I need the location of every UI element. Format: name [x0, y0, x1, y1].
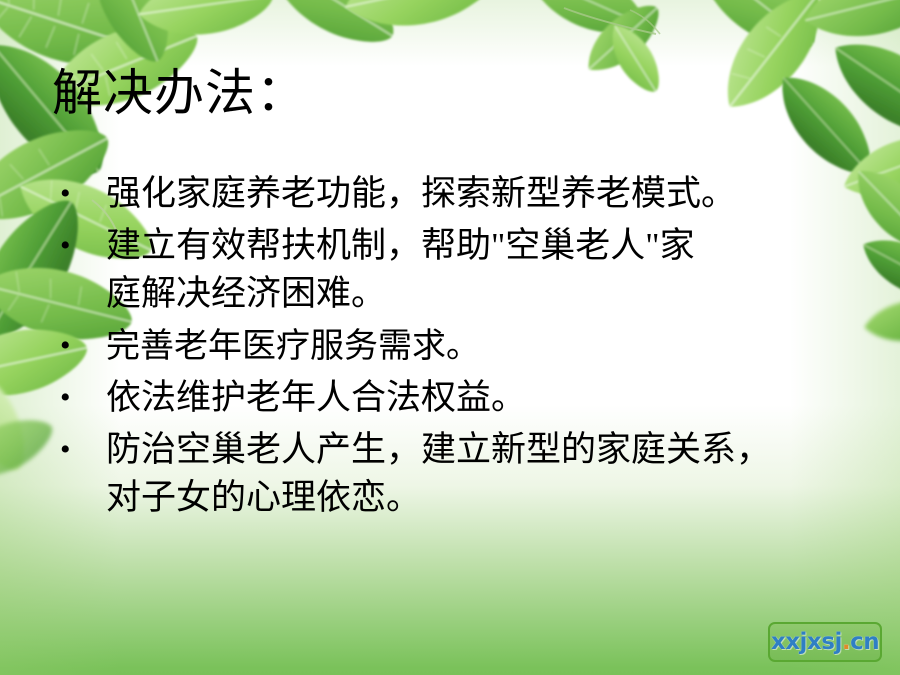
bullet-text-1-line1: 强化家庭养老功能，探索新型养老模式。: [106, 174, 736, 213]
leaf-stem-top-center: [560, 4, 680, 50]
bullet-marker-icon: •: [54, 374, 106, 422]
list-item: • 防治空巢老人产生，建立新型的家庭关系， 对子女的心理依恋。: [54, 426, 854, 522]
bullet-text-2-line2: 庭解决经济困难。: [106, 270, 854, 318]
list-item: • 建立有效帮扶机制，帮助"空巢老人"家 庭解决经济困难。: [54, 222, 854, 318]
bullet-marker-icon: •: [54, 322, 106, 370]
bullet-marker-icon: •: [54, 426, 106, 474]
bullet-list: • 强化家庭养老功能，探索新型养老模式。 • 建立有效帮扶机制，帮助"空巢老人"…: [54, 170, 854, 526]
bullet-text-3: 完善老年医疗服务需求。: [106, 322, 854, 370]
bullet-marker-icon: •: [54, 170, 106, 218]
list-item: • 完善老年医疗服务需求。: [54, 322, 854, 370]
bullet-text-5-line2: 对子女的心理依恋。: [106, 474, 854, 522]
slide-canvas: 解决办法： • 强化家庭养老功能，探索新型养老模式。 • 建立有效帮扶机制，帮助…: [0, 0, 900, 675]
bullet-text-4: 依法维护老年人合法权益。: [106, 374, 854, 422]
bullet-text-3-line1: 完善老年医疗服务需求。: [106, 327, 480, 365]
list-item: • 强化家庭养老功能，探索新型养老模式。: [54, 170, 854, 218]
bullet-text-4-line1: 依法维护老年人合法权益。: [106, 378, 526, 417]
bullet-text-5-line1: 防治空巢老人产生，建立新型的家庭关系，: [106, 430, 771, 469]
bullet-text-1: 强化家庭养老功能，探索新型养老模式。: [106, 170, 854, 218]
watermark-text-part1: xxjxsj: [771, 631, 842, 654]
watermark-dot: .: [842, 631, 850, 654]
bullet-text-5: 防治空巢老人产生，建立新型的家庭关系， 对子女的心理依恋。: [106, 426, 854, 522]
bullet-text-2-line1: 建立有效帮扶机制，帮助"空巢老人"家: [106, 226, 695, 265]
watermark-text-part2: cn: [850, 631, 879, 654]
watermark-logo: xxjxsj.cn: [768, 622, 882, 662]
bullet-text-2: 建立有效帮扶机制，帮助"空巢老人"家 庭解决经济困难。: [106, 222, 854, 318]
slide-title: 解决办法：: [52, 62, 307, 124]
bullet-marker-icon: •: [54, 222, 106, 270]
list-item: • 依法维护老年人合法权益。: [54, 374, 854, 422]
